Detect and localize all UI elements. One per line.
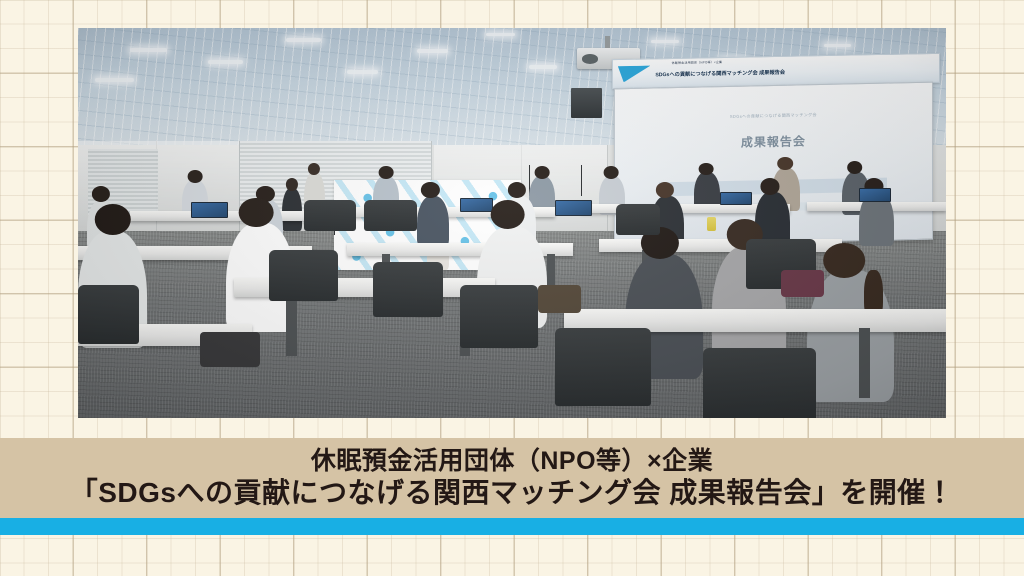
- wall-speaker-icon: [571, 88, 602, 117]
- caption-line-1: 休眠預金活用団体（NPO等）×企業: [311, 448, 713, 475]
- ceiling-light: [130, 48, 166, 52]
- attendee-head: [508, 182, 526, 198]
- stage-banner-line1: 休眠預金活用団体（NPO等）×企業: [671, 60, 722, 65]
- laptop: [460, 198, 493, 212]
- ceiling-light: [208, 60, 243, 64]
- banner-canvas: 休眠預金活用団体（NPO等）×企業 SDGsへの貢献につなげる関西マッチング会 …: [0, 0, 1024, 576]
- stage-banner-line2: SDGsへの貢献につなげる関西マッチング会 成果報告会: [655, 69, 785, 78]
- chair: [555, 328, 650, 406]
- attendee-head: [239, 198, 274, 228]
- table-leg: [859, 328, 869, 398]
- laptop: [555, 200, 592, 216]
- chair: [703, 348, 816, 418]
- attendee-head: [188, 170, 203, 183]
- caption-band: 休眠預金活用団体（NPO等）×企業 「SDGsへの貢献につなげる関西マッチング会…: [0, 438, 1024, 518]
- attendee-head: [490, 200, 525, 230]
- chair: [364, 200, 416, 231]
- table-leg: [547, 254, 556, 285]
- photo-scene: 休眠預金活用団体（NPO等）×企業 SDGsへの貢献につなげる関西マッチング会 …: [78, 28, 946, 418]
- slide-subtitle: SDGsへの貢献につなげる関西マッチング会: [615, 109, 932, 122]
- attendee: [417, 196, 450, 247]
- attendee-head: [824, 243, 866, 278]
- bag: [781, 270, 824, 297]
- laptop: [720, 192, 752, 206]
- accent-stripe: [0, 518, 1024, 535]
- projector-lens: [582, 54, 598, 64]
- banner-logo-icon: [618, 66, 651, 83]
- chair: [616, 204, 659, 235]
- ceiling-light: [529, 65, 557, 68]
- attendee-head: [778, 157, 794, 170]
- bag: [538, 285, 581, 312]
- ceiling-light: [486, 33, 516, 36]
- bag: [200, 332, 261, 367]
- chair: [460, 285, 538, 347]
- laptop: [191, 202, 228, 218]
- microphone-stand: [581, 165, 582, 196]
- event-photo: 休眠預金活用団体（NPO等）×企業 SDGsへの貢献につなげる関西マッチング会 …: [78, 28, 946, 418]
- attendee-head: [91, 186, 109, 202]
- ceiling-light: [824, 44, 850, 47]
- ceiling-light: [286, 38, 321, 42]
- staff-member: [282, 188, 302, 231]
- drink-bottle: [707, 217, 716, 231]
- ceiling-light: [651, 40, 679, 43]
- laptop: [859, 188, 891, 202]
- chair: [78, 285, 139, 344]
- table-leg: [286, 293, 296, 355]
- attendee-head: [421, 182, 439, 198]
- attendee-head: [847, 161, 863, 174]
- chair: [269, 250, 338, 301]
- ceiling-light: [417, 49, 448, 52]
- chair: [304, 200, 356, 231]
- chair: [373, 262, 442, 317]
- ceiling-light: [95, 78, 133, 82]
- ceiling-light: [347, 70, 378, 74]
- caption-line-2: 「SDGsへの貢献につなげる関西マッチング会 成果報告会」を開催！: [70, 478, 955, 508]
- slide-title: 成果報告会: [615, 129, 932, 153]
- attendee-head: [656, 182, 674, 198]
